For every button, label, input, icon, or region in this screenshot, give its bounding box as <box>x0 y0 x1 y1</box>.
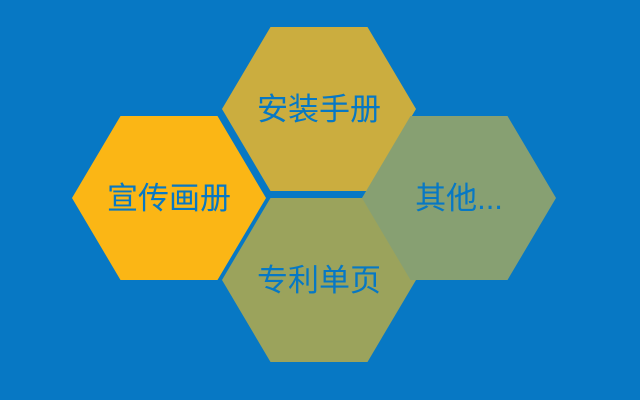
hexagon-label-brochure: 宣传画册 <box>107 183 231 214</box>
diagram-canvas: 宣传画册 安装手册 专利单页 其他... <box>0 0 640 400</box>
hexagon-label-others: 其他... <box>415 183 503 214</box>
hexagon-label-patent-sheet: 专利单页 <box>257 265 381 296</box>
hexagon-label-install-manual: 安装手册 <box>257 94 381 125</box>
